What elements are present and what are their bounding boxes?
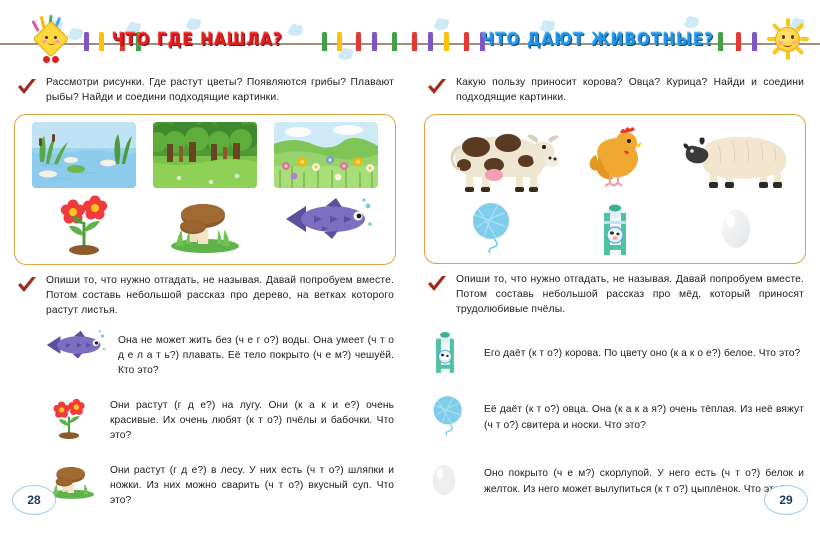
egg-icon[interactable] — [684, 199, 788, 255]
task-text: Опиши то, что нужно отгадать, не называя… — [456, 273, 804, 318]
right-banner: ЧТО ДАЮТ ЖИВОТНЫЕ? — [410, 0, 820, 72]
picture-panel-left — [14, 114, 396, 265]
meadow-scene[interactable] — [274, 122, 378, 188]
page-number-right: 29 — [764, 485, 808, 515]
forest-scene[interactable] — [153, 122, 257, 188]
riddle-milk: Его даёт (к т о?) корова. По цвету оно (… — [410, 326, 820, 382]
page-number-text: 28 — [27, 493, 40, 507]
garland-flag — [464, 37, 469, 51]
riddle-text: Она не может жить без (ч е г о?) воды. О… — [118, 333, 394, 379]
riddle-mushroom: Они растут (г д е?) в лесу. У них есть (… — [0, 458, 410, 514]
fish-icon — [40, 328, 108, 384]
flower-icon — [44, 393, 100, 449]
workbook-spread: ЧТО ГДЕ НАШЛА? Рассмотри рисунки. Где ра… — [0, 0, 820, 537]
garland-flag — [356, 37, 361, 51]
checkmark-icon — [426, 76, 448, 106]
kite-character-icon — [22, 14, 78, 66]
left-banner: ЧТО ГДЕ НАШЛА? — [0, 0, 410, 72]
checkmark-icon — [426, 273, 448, 318]
task-instruction-1: Рассмотри рисунки. Где растут цветы? Поя… — [0, 76, 410, 106]
checkmark-icon — [16, 76, 38, 106]
animal-row — [433, 125, 797, 195]
egg-icon — [428, 454, 474, 510]
riddle-yarn: Её даёт (к т о?) овца. Она (к а к а я?) … — [410, 390, 820, 446]
right-page-title: ЧТО ДАЮТ ЖИВОТНЫЕ? — [482, 29, 714, 50]
object-row — [23, 194, 387, 256]
task-instruction-2: Опиши то, что нужно отгадать, не называя… — [0, 274, 410, 319]
garland-flag — [322, 37, 327, 51]
task-text: Опиши то, что нужно отгадать, не называя… — [46, 274, 394, 319]
right-page: ЧТО ДАЮТ ЖИВОТНЫЕ? — [410, 0, 820, 537]
garland-flag — [372, 37, 377, 51]
milk-carton-icon[interactable] — [563, 199, 667, 255]
cloud-icon — [338, 52, 352, 60]
riddle-egg: Оно покрыто (ч е м?) скорлупой. У него е… — [410, 454, 820, 510]
cloud-icon — [288, 28, 302, 36]
task-text: Рассмотри рисунки. Где растут цветы? Поя… — [46, 76, 394, 106]
cow-icon[interactable] — [442, 125, 546, 195]
garland-flag — [752, 37, 757, 51]
riddle-text: Его даёт (к т о?) корова. По цвету оно (… — [484, 346, 800, 361]
milk-carton-icon — [428, 326, 474, 382]
picture-panel-right — [424, 114, 806, 264]
riddle-text: Оно покрыто (ч е м?) скорлупой. У него е… — [484, 466, 804, 497]
garland-flag — [392, 37, 397, 51]
product-row — [433, 199, 797, 255]
scene-row — [23, 122, 387, 188]
garland-flag — [736, 37, 741, 51]
flower-icon[interactable] — [32, 194, 136, 256]
yarn-ball-icon — [428, 390, 474, 446]
garland-flag — [412, 37, 417, 51]
riddle-text: Они растут (г д е?) в лесу. У них есть (… — [110, 463, 394, 509]
pond-scene[interactable] — [32, 122, 136, 188]
fish-icon[interactable] — [274, 194, 378, 256]
yarn-ball-icon[interactable] — [442, 199, 546, 255]
page-number-text: 29 — [779, 493, 792, 507]
task-instruction-1: Какую пользу приносит корова? Овца? Кури… — [410, 76, 820, 106]
garland-flag — [337, 37, 342, 51]
garland-flag — [718, 37, 723, 51]
riddle-text: Её даёт (к т о?) овца. Она (к а к а я?) … — [484, 402, 804, 433]
left-page: ЧТО ГДЕ НАШЛА? Рассмотри рисунки. Где ра… — [0, 0, 410, 537]
cloud-icon — [684, 20, 698, 28]
mushroom-icon[interactable] — [153, 194, 257, 256]
page-number-left: 28 — [12, 485, 56, 515]
hen-icon[interactable] — [563, 125, 667, 195]
sun-character-icon — [764, 16, 812, 62]
task-text: Какую пользу приносит корова? Овца? Кури… — [456, 76, 804, 106]
task-instruction-2: Опиши то, что нужно отгадать, не называя… — [410, 273, 820, 318]
garland-flag — [444, 37, 449, 51]
riddle-flower: Они растут (г д е?) на лугу. Они (к а к … — [0, 393, 410, 449]
riddle-fish: Она не может жить без (ч е г о?) воды. О… — [0, 328, 410, 384]
cloud-icon — [434, 22, 448, 30]
riddle-text: Они растут (г д е?) на лугу. Они (к а к … — [110, 398, 394, 444]
left-page-title: ЧТО ГДЕ НАШЛА? — [112, 29, 283, 50]
garland-flag — [99, 37, 104, 51]
garland-flag — [84, 37, 89, 51]
sheep-icon[interactable] — [684, 125, 788, 195]
garland-flag — [428, 37, 433, 51]
checkmark-icon — [16, 274, 38, 319]
